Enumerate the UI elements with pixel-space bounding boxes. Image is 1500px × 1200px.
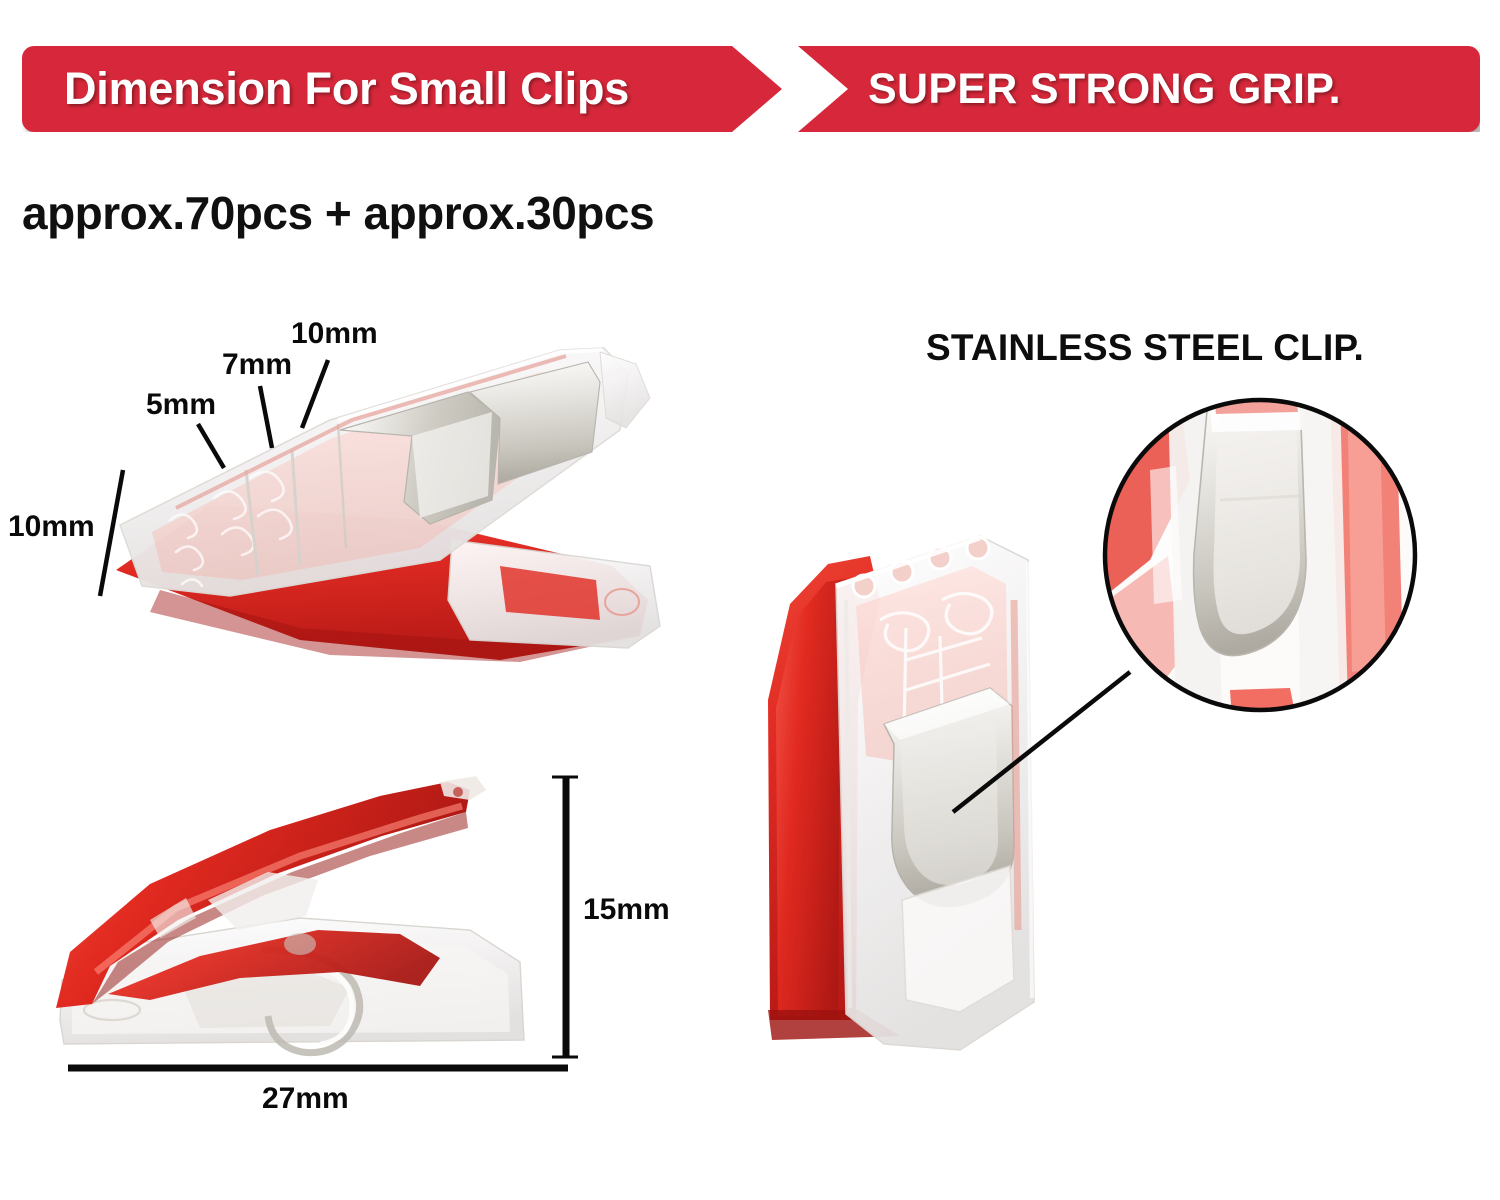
banner-subtitle: SUPER STRONG GRIP.	[868, 46, 1341, 132]
artwork-layer	[0, 0, 1500, 1200]
label-7mm: 7mm	[222, 348, 292, 382]
banner-title: Dimension For Small Clips	[64, 46, 629, 132]
magnifier-ring	[1105, 400, 1415, 710]
leader-7mm	[260, 386, 272, 448]
label-10mm-left: 10mm	[8, 510, 95, 544]
quantity-line: approx.70pcs + approx.30pcs	[22, 186, 654, 240]
dimension-15mm	[552, 776, 578, 1058]
label-27mm: 27mm	[262, 1082, 349, 1116]
leader-10mm-left	[100, 470, 123, 596]
stainless-steel-heading: STAINLESS STEEL CLIP.	[926, 327, 1364, 369]
infographic-canvas: Dimension For Small Clips SUPER STRONG G…	[0, 0, 1500, 1200]
label-10mm-top: 10mm	[291, 317, 378, 351]
photo-standing-clip	[768, 536, 1034, 1050]
leader-5mm	[198, 424, 224, 468]
dimple-row	[853, 537, 989, 597]
photo-side-clip-profile	[56, 776, 524, 1053]
label-5mm: 5mm	[146, 388, 216, 422]
magnifier-leader-line	[953, 672, 1130, 812]
label-15mm: 15mm	[583, 893, 670, 927]
leader-10mm-top	[302, 360, 328, 428]
magnifier-callout	[1100, 394, 1420, 720]
header-banner: Dimension For Small Clips SUPER STRONG G…	[22, 46, 1480, 132]
